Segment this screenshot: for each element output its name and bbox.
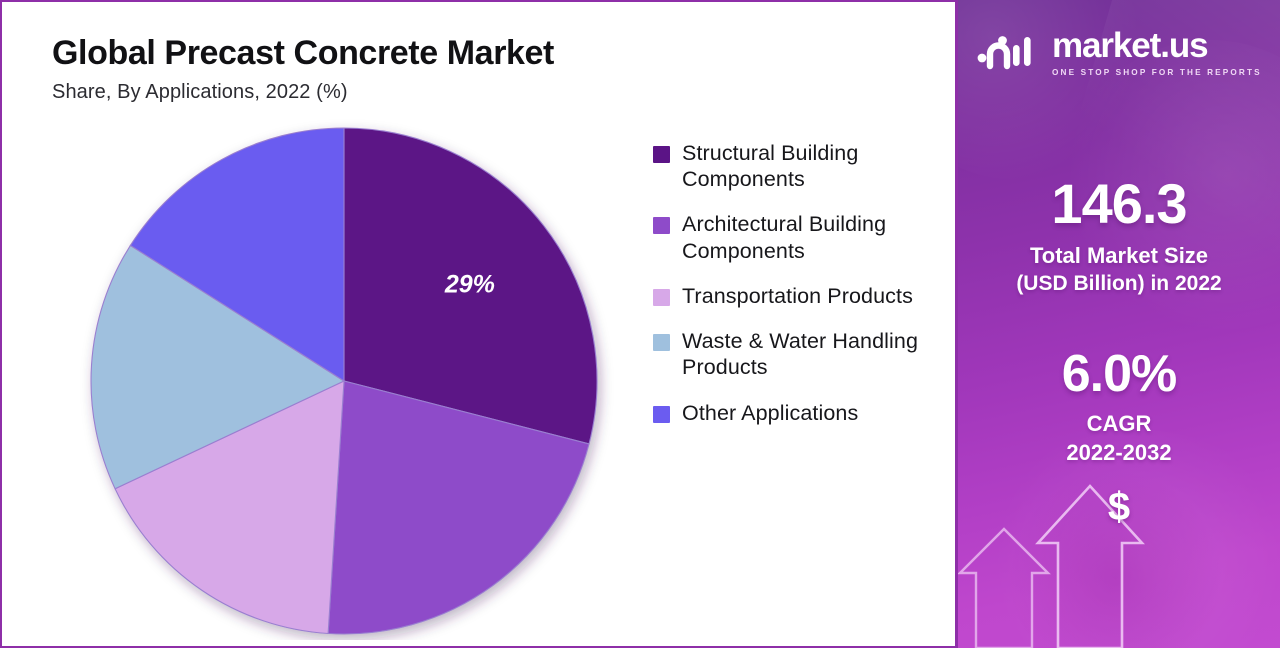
brand-name: market.us <box>1052 28 1262 63</box>
cagr-caption: CAGR <box>958 411 1280 438</box>
dollar-sign-icon: $ <box>958 485 1280 530</box>
chart-panel-inner: Global Precast Concrete Market Share, By… <box>8 8 949 640</box>
page-subtitle: Share, By Applications, 2022 (%) <box>52 81 554 104</box>
legend-item-label: Waste & Water Handling Products <box>682 328 949 380</box>
legend-swatch-icon <box>653 334 670 351</box>
market-size-caption-line2: (USD Billion) in 2022 <box>958 271 1280 297</box>
page-title: Global Precast Concrete Market <box>52 34 554 73</box>
cagr-stat: 6.0% CAGR 2022-2032 <box>958 348 1280 467</box>
legend-swatch-icon <box>653 146 670 163</box>
up-arrow-icon <box>960 529 1048 648</box>
legend-item[interactable]: Structural Building Components <box>653 140 949 192</box>
legend-item[interactable]: Waste & Water Handling Products <box>653 328 949 380</box>
market-us-logo-icon <box>976 30 1038 75</box>
legend-swatch-icon <box>653 406 670 423</box>
pie-chart-svg: 29% <box>86 123 602 639</box>
chart-legend: Structural Building ComponentsArchitectu… <box>653 140 949 445</box>
legend-item[interactable]: Architectural Building Components <box>653 211 949 263</box>
legend-item-label: Transportation Products <box>682 283 913 309</box>
title-block: Global Precast Concrete Market Share, By… <box>52 34 554 104</box>
market-size-stat: 146.3 Total Market Size (USD Billion) in… <box>958 176 1280 296</box>
chart-panel: Global Precast Concrete Market Share, By… <box>0 0 958 648</box>
legend-swatch-icon <box>653 289 670 306</box>
pie-chart: 29% <box>86 123 602 639</box>
cagr-value: 6.0% <box>958 348 1280 400</box>
brand-logo[interactable]: market.us ONE STOP SHOP FOR THE REPORTS <box>976 28 1262 77</box>
legend-item-label: Other Applications <box>682 400 858 426</box>
legend-swatch-icon <box>653 217 670 234</box>
cagr-period: 2022-2032 <box>958 440 1280 467</box>
brand-logo-text: market.us ONE STOP SHOP FOR THE REPORTS <box>1052 28 1262 77</box>
market-size-value: 146.3 <box>958 176 1280 232</box>
legend-item[interactable]: Other Applications <box>653 400 949 426</box>
legend-item-label: Structural Building Components <box>682 140 949 192</box>
brand-stats-panel: market.us ONE STOP SHOP FOR THE REPORTS … <box>958 0 1280 648</box>
infographic-root: Global Precast Concrete Market Share, By… <box>0 0 1280 648</box>
pie-slice-label-29: 29% <box>444 270 495 298</box>
legend-item[interactable]: Transportation Products <box>653 283 949 309</box>
brand-tagline: ONE STOP SHOP FOR THE REPORTS <box>1052 68 1262 77</box>
pie-slices <box>91 128 597 634</box>
legend-item-label: Architectural Building Components <box>682 211 949 263</box>
market-size-caption-line1: Total Market Size <box>958 243 1280 270</box>
